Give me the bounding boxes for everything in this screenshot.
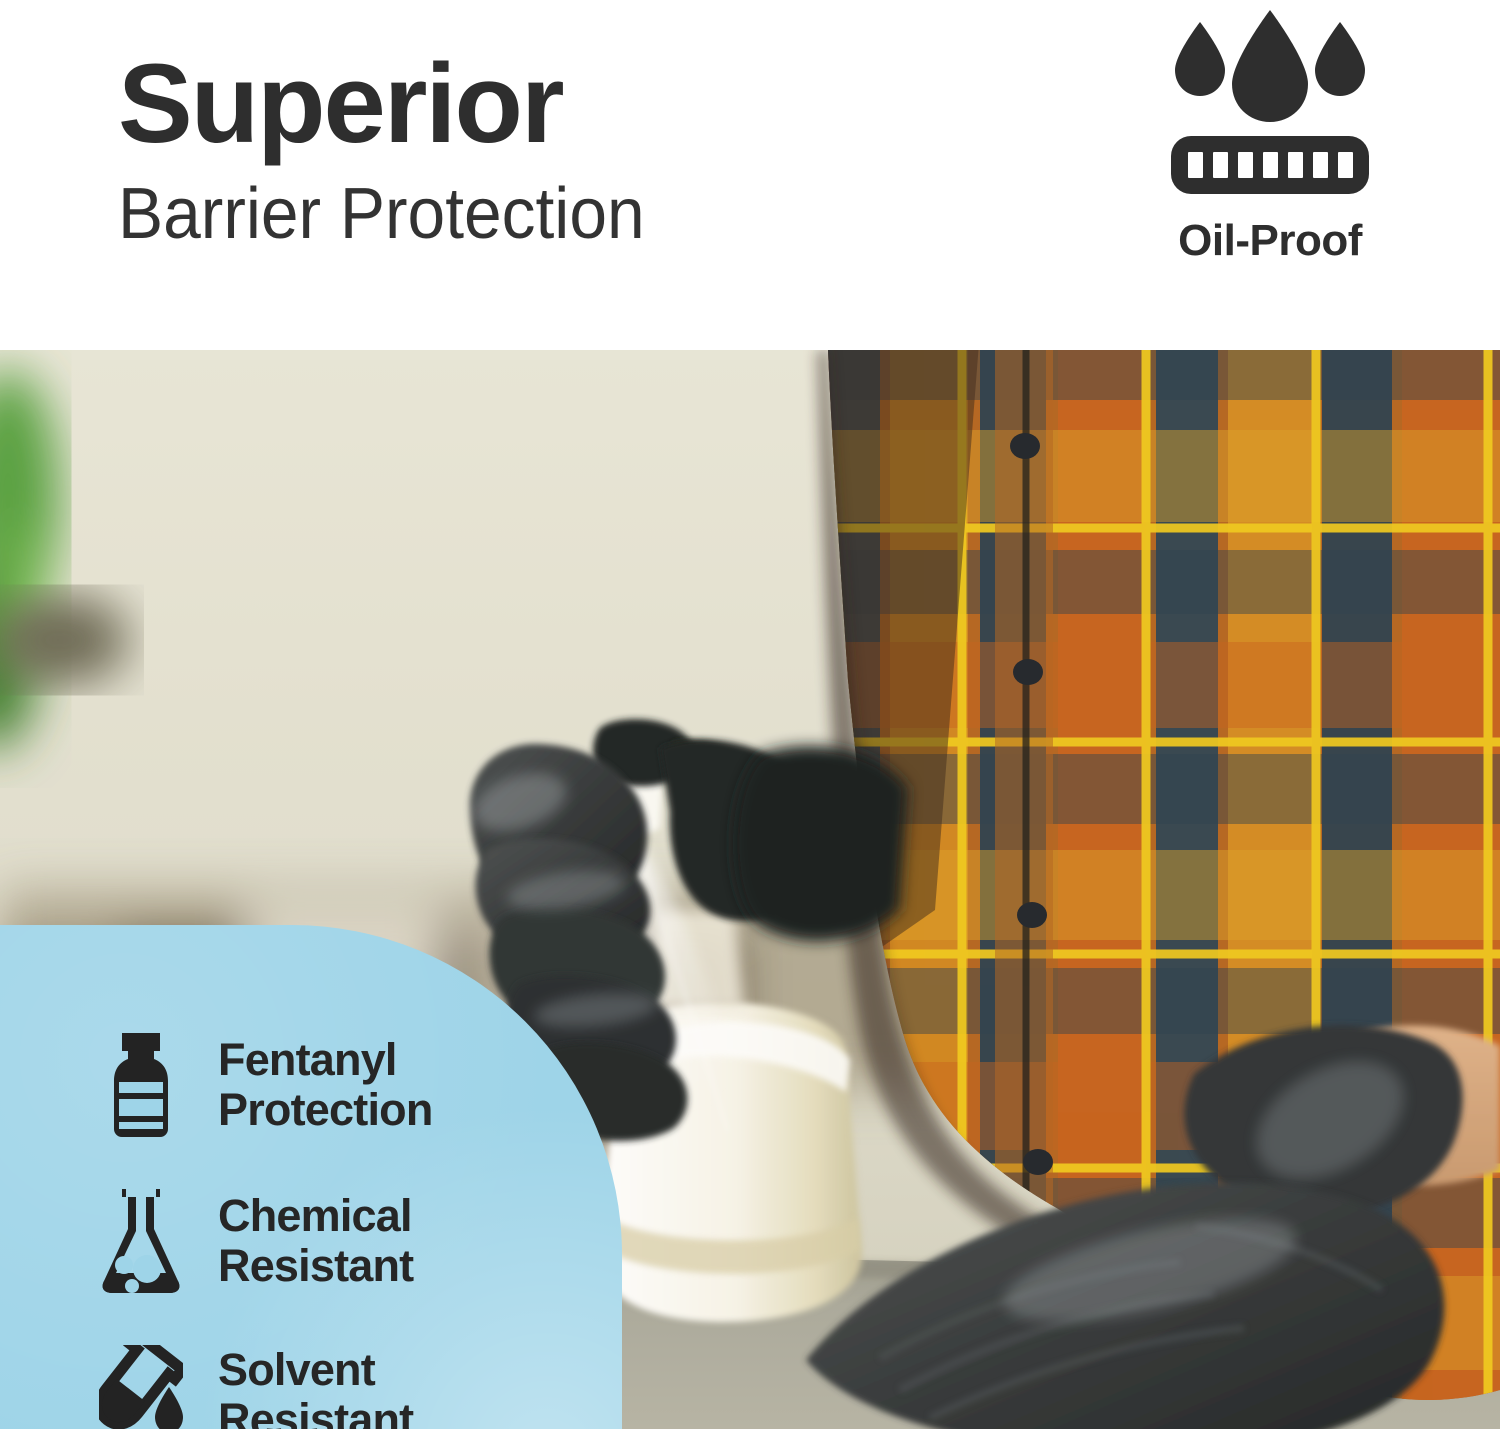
feature-label-chemical: ChemicalResistant	[218, 1191, 413, 1292]
oil-drops-barrier-icon	[1145, 8, 1395, 198]
headline-block: Superior Barrier Protection	[118, 48, 978, 255]
headline-secondary: Barrier Protection	[118, 174, 926, 255]
oil-proof-badge: Oil-Proof	[1105, 8, 1435, 266]
vial-icon	[96, 1033, 186, 1137]
feature-label-fentanyl: FentanylProtection	[218, 1035, 433, 1136]
feature-item-fentanyl: FentanylProtection	[96, 1033, 566, 1137]
feature-item-chemical: ChemicalResistant	[96, 1189, 566, 1293]
feature-label-solvent: SolventResistant	[218, 1345, 413, 1429]
test-tube-icon	[96, 1345, 186, 1429]
headline-primary: Superior	[118, 48, 978, 160]
oil-proof-label: Oil-Proof	[1178, 216, 1362, 266]
flask-icon	[96, 1189, 186, 1293]
feature-list: FentanylProtection ChemicalResistant	[96, 1033, 566, 1429]
product-photo: FentanylProtection ChemicalResistant	[0, 350, 1500, 1429]
feature-item-solvent: SolventResistant	[96, 1345, 566, 1429]
header-banner: Superior Barrier Protection Oil-Proof	[0, 0, 1500, 350]
